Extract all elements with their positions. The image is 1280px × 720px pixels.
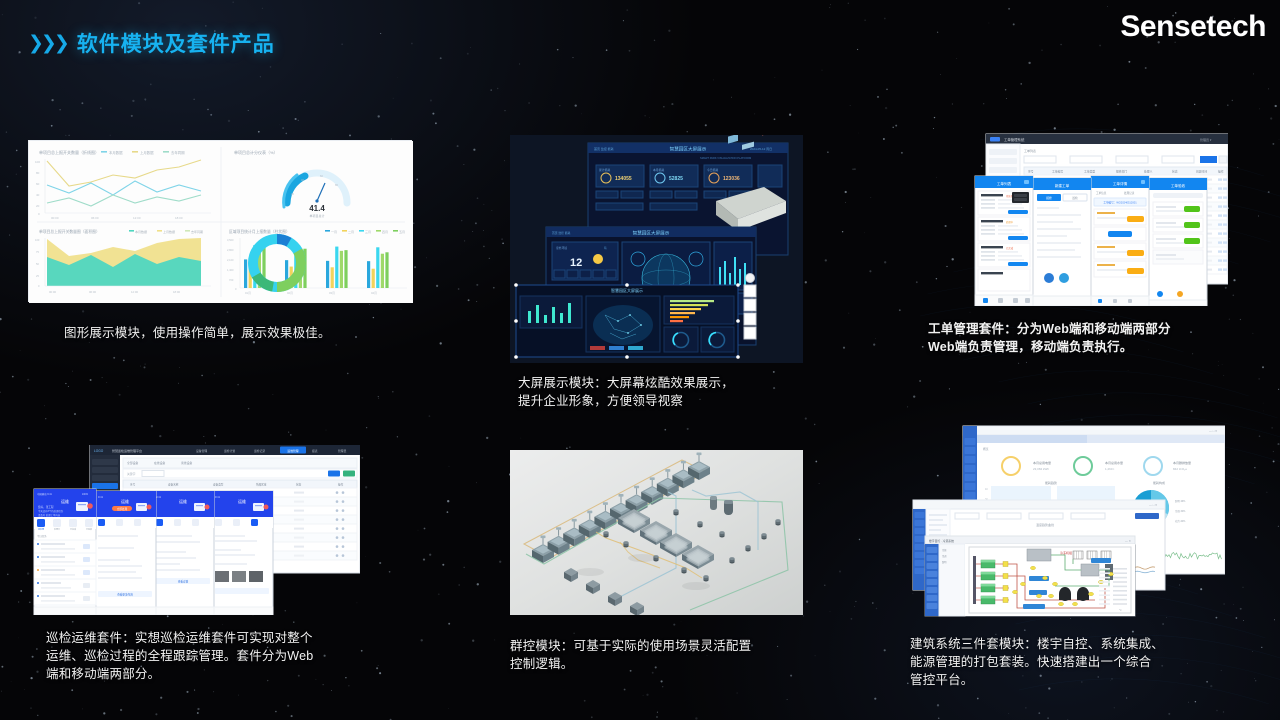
svg-text:二月: 二月 (348, 230, 354, 234)
svg-text:查看详情: 查看详情 (178, 580, 189, 584)
svg-text:18:00: 18:00 (173, 290, 180, 294)
svg-text:SMART PARK VISUALIZATION PLATF: SMART PARK VISUALIZATION PLATFORM (700, 156, 751, 160)
svg-text:今天还有8个待处理任务: 今天还有8个待处理任务 (38, 509, 64, 513)
bi-dashboard-image: 单项目总上报开关数量（折线图） 本月数据 上月数据 去年同期 1008060 4… (29, 141, 413, 303)
svg-text:上月数据: 上月数据 (163, 229, 175, 234)
svg-text:2,100: 2,100 (227, 258, 234, 262)
page-title: 软件模块及套件产品 (77, 28, 275, 58)
svg-text:今日任务: 今日任务 (37, 534, 47, 538)
svg-text:所属区域: 所属区域 (256, 483, 267, 487)
svg-text:状态: 状态 (296, 483, 302, 487)
svg-text:41.4: 41.4 (309, 204, 325, 213)
svg-text:晴: 晴 (604, 246, 607, 250)
svg-text:单项目总计分仪表（%）: 单项目总计分仪表（%） (234, 149, 278, 155)
svg-text:报修部门: 报修部门 (1116, 170, 1127, 174)
inspection-suite-image: LOGO 智慧巡检运维管理平台 设备管理巡检计划 巡检记录 运维管理 报表 管理… (28, 445, 360, 615)
caption-inspection-suite-line3: 端和移动端两部分。 (46, 666, 406, 684)
svg-text:巡检计划: 巡检计划 (224, 449, 235, 453)
panel-group-control-screenshot[interactable]: 群控模块：可基于实际的使用场景灵活配置 控制逻辑。 (510, 450, 803, 615)
svg-text:9:41: 9:41 (215, 495, 221, 499)
svg-text:序号: 序号 (1028, 170, 1034, 174)
svg-text:工单列表: 工单列表 (997, 181, 1012, 186)
svg-text:请及时 处理工单内容: 请及时 处理工单内容 (38, 513, 61, 517)
svg-text:工单类型: 工单类型 (1084, 170, 1095, 174)
svg-text:9:41: 9:41 (98, 495, 104, 499)
svg-text:本月数据: 本月数据 (135, 229, 147, 234)
svg-text:能耗构成: 能耗构成 (1153, 480, 1165, 485)
svg-text:创建时间: 创建时间 (1196, 170, 1207, 174)
svg-text:工单验收: 工单验收 (1171, 183, 1186, 188)
svg-text:智慧园区大屏展示: 智慧园区大屏展示 (633, 230, 670, 237)
svg-text:单项目总上报开关数量图（面积图）: 单项目总上报开关数量图（面积图） (39, 229, 100, 234)
svg-text:巡检记录: 巡检记录 (254, 449, 265, 453)
svg-text:今日能耗: 今日能耗 (707, 168, 718, 172)
video-wall-collage-image: 智慧园区大屏展示 首页 监控 能耗 2024-05-12 周日 SMART PA… (510, 135, 803, 363)
svg-text:工单详情: 工单详情 (1113, 181, 1128, 186)
svg-text:80: 80 (36, 171, 40, 175)
page-header: ❯❯❯ 软件模块及套件产品 Sensetech (0, 0, 1280, 70)
svg-text:空调 34%: 空调 34% (1175, 509, 1186, 513)
svg-text:三月: 三月 (365, 230, 371, 234)
caption-building-systems-line3: 管控平台。 (910, 672, 1250, 690)
panel-graphics-module-screenshot[interactable]: 单项目总上报开关数量（折线图） 本月数据 上月数据 去年同期 1008060 4… (28, 140, 412, 302)
svg-text:上月数据: 上月数据 (140, 150, 154, 155)
chevron-right-icon: ❯❯❯ (28, 32, 67, 55)
panel-building-systems-screenshot[interactable]: — □ ✕ 概览 本月总用电量 23,084 kWh 本月总用水量 1,260 … (905, 418, 1225, 618)
svg-text:03月: 03月 (329, 291, 335, 295)
svg-text:12: 12 (570, 257, 582, 269)
svg-text:单项目总上报开关数量（折线图）: 单项目总上报开关数量（折线图） (39, 149, 99, 155)
svg-text:00:00: 00:00 (51, 216, 59, 220)
svg-text:— □ ✕: — □ ✕ (1209, 429, 1217, 433)
svg-text:3,500: 3,500 (227, 238, 234, 242)
svg-text:处理人: 处理人 (1144, 170, 1153, 174)
svg-text:智慧园区大屏展示: 智慧园区大屏展示 (670, 146, 707, 153)
caption-building-systems-line1: 建筑系统三件套模块：楼宇自控、系统集成、 (910, 636, 1250, 654)
svg-text:℃: ℃ (1119, 609, 1122, 612)
svg-text:23,084 kWh: 23,084 kWh (1033, 467, 1049, 471)
caption-work-order-suite-line1: 工单管理套件：分为Web端和移动端两部分 (928, 321, 1268, 339)
svg-text:LOGO: LOGO (94, 449, 104, 453)
caption-inspection-suite-line2: 运维、巡检过程的全程跟踪管理。套件分为Web (46, 648, 406, 666)
svg-text:楼宇自控 · 冷源系统: 楼宇自控 · 冷源系统 (929, 539, 954, 543)
svg-text:新建工单: 新建工单 (1055, 183, 1070, 188)
svg-text:报表: 报表 (312, 449, 318, 453)
svg-text:室外环境: 室外环境 (556, 246, 567, 250)
svg-text:2,800: 2,800 (227, 248, 234, 252)
svg-text:02月: 02月 (287, 291, 293, 295)
svg-text:本月数据: 本月数据 (109, 150, 123, 155)
panel-inspection-suite-screenshot[interactable]: LOGO 智慧巡检运维管理平台 设备管理巡检计划 巡检记录 运维管理 报表 管理… (28, 445, 360, 615)
svg-text:去年同期: 去年同期 (171, 150, 185, 155)
svg-text:一月: 一月 (331, 230, 337, 234)
svg-text:在线设备: 在线设备 (154, 461, 165, 465)
svg-text:设备管理: 设备管理 (196, 449, 207, 453)
panel-work-order-suite-screenshot[interactable]: 工单管理系统 管理员 ▾ 工单列表 序号工单编号 工单类型报修部门 处理人状态 … (928, 128, 1228, 306)
caption-graphics-module: 图形展示模块，使用操作简单，展示效果极佳。 (64, 325, 424, 343)
svg-text:842 tCO₂e: 842 tCO₂e (1173, 467, 1187, 471)
svg-text:04月: 04月 (371, 291, 377, 295)
svg-text:序号: 序号 (130, 483, 136, 487)
svg-text:运维: 运维 (179, 498, 187, 504)
svg-text:操作: 操作 (338, 483, 344, 487)
svg-text:100: 100 (35, 238, 40, 242)
svg-text:60: 60 (36, 182, 40, 186)
svg-text:动力 20%: 动力 20% (1175, 519, 1186, 523)
svg-text:区域项目统计月上报数量（柱状图）: 区域项目统计月上报数量（柱状图） (229, 229, 290, 234)
svg-text:100: 100 (35, 160, 40, 164)
svg-text:— ✕: — ✕ (1125, 539, 1131, 543)
svg-text:单项目总计: 单项目总计 (309, 213, 324, 218)
svg-text:工单信息: 工单信息 (1096, 191, 1107, 195)
svg-text:1,400: 1,400 (227, 268, 234, 272)
svg-text:运维: 运维 (238, 498, 246, 504)
svg-text:温度趋势曲线: 温度趋势曲线 (1036, 522, 1054, 527)
svg-text:40: 40 (36, 193, 40, 197)
svg-text:本月总用电量: 本月总用电量 (1033, 460, 1051, 465)
svg-text:中国移动 9:41: 中国移动 9:41 (37, 492, 53, 496)
page-title-wrap: ❯❯❯ 软件模块及套件产品 (28, 28, 275, 58)
svg-text:工单管理系统: 工单管理系统 (1004, 137, 1025, 142)
svg-text:处理中: 处理中 (1006, 220, 1014, 224)
svg-text:134055: 134055 (615, 176, 632, 182)
svg-text:累计能耗: 累计能耗 (599, 168, 610, 172)
caption-large-screen-module-line2: 提升企业形象，方便领导视察 (518, 393, 818, 411)
svg-text:四月: 四月 (382, 230, 388, 234)
svg-text:立即处理: 立即处理 (117, 507, 128, 511)
svg-text:冷冻机组: 冷冻机组 (1060, 550, 1072, 555)
svg-text:00:00: 00:00 (49, 290, 56, 294)
svg-text:报修: 报修 (1046, 196, 1052, 200)
svg-text:01月: 01月 (245, 291, 251, 295)
svg-text:状态: 状态 (1172, 170, 1178, 174)
svg-text:— □ ✕: — □ ✕ (1149, 503, 1157, 507)
work-order-suite-image: 工单管理系统 管理员 ▾ 工单列表 序号工单编号 工单类型报修部门 处理人状态 … (928, 128, 1228, 306)
svg-text:离线设备: 离线设备 (181, 461, 192, 465)
svg-text:06:00: 06:00 (89, 290, 96, 294)
panel-large-screen-module-screenshot[interactable]: 智慧园区大屏展示 首页 监控 能耗 2024-05-12 周日 SMART PA… (510, 135, 803, 363)
svg-text:管理员: 管理员 (338, 449, 347, 453)
svg-text:运维: 运维 (61, 498, 69, 504)
svg-text:18:00: 18:00 (175, 216, 183, 220)
svg-text:管理员 ▾: 管理员 ▾ (1200, 137, 1212, 142)
svg-text:1,260 t: 1,260 t (1105, 467, 1114, 471)
svg-text:设备名称: 设备名称 (168, 483, 179, 487)
svg-text:工单列表: 工单列表 (1024, 148, 1036, 153)
chiller-plant-3d-image (510, 450, 803, 615)
svg-text:巡检: 巡检 (1072, 196, 1078, 200)
svg-text:首页 监控 能耗: 首页 监控 能耗 (552, 231, 571, 235)
svg-text:20: 20 (36, 204, 40, 208)
svg-text:700: 700 (229, 278, 234, 282)
svg-text:智慧园区大屏展示: 智慧园区大屏展示 (611, 287, 643, 293)
caption-group-control-line2: 控制逻辑。 (510, 656, 830, 674)
svg-text:查看更多内容: 查看更多内容 (117, 593, 133, 597)
svg-text:123036: 123036 (723, 176, 740, 182)
svg-text:运维管理: 运维管理 (287, 449, 298, 453)
svg-text:首页 监控 能耗: 首页 监控 能耗 (594, 146, 614, 151)
svg-text:12:00: 12:00 (131, 290, 138, 294)
svg-text:运维: 运维 (121, 498, 129, 504)
svg-text:本月碳排放量: 本月碳排放量 (1173, 460, 1191, 465)
svg-text:06:00: 06:00 (91, 216, 99, 220)
svg-text:已完成: 已完成 (1006, 246, 1014, 250)
building-systems-image: — □ ✕ 概览 本月总用电量 23,084 kWh 本月总用水量 1,260 … (905, 418, 1225, 618)
svg-text:照明 46%: 照明 46% (1175, 499, 1186, 503)
svg-text:本月总用水量: 本月总用水量 (1105, 460, 1123, 465)
svg-text:9:41: 9:41 (156, 495, 162, 499)
caption-work-order-suite-line2: Web端负责管理，移动端负责执行。 (928, 339, 1268, 357)
svg-text:处理记录: 处理记录 (1124, 191, 1135, 195)
svg-text:52825: 52825 (669, 176, 683, 182)
svg-text:五月: 五月 (399, 230, 405, 234)
caption-building-systems-line2: 能源管理的打包套装。快速搭建出一个综合 (910, 654, 1250, 672)
svg-text:去年同期: 去年同期 (191, 229, 203, 234)
caption-large-screen-module-line1: 大屏展示模块：大屏幕炫酷效果展示， (518, 375, 818, 393)
svg-text:您好，张工程: 您好，张工程 (38, 505, 54, 509)
svg-text:智慧巡检运维管理平台: 智慧巡检运维管理平台 (112, 448, 142, 453)
caption-group-control-line1: 群控模块：可基于实际的使用场景灵活配置 (510, 638, 830, 656)
svg-text:概览: 概览 (983, 447, 989, 451)
caption-inspection-suite-line1: 巡检运维套件：实想巡检运维套件可实现对整个 (46, 630, 406, 648)
svg-text:关键字: 关键字 (127, 472, 136, 476)
svg-text:本月能耗: 本月能耗 (653, 168, 664, 172)
svg-text:设备类型: 设备类型 (213, 483, 224, 487)
svg-text:100%: 100% (82, 493, 89, 496)
svg-text:能耗趋势: 能耗趋势 (1045, 480, 1057, 485)
svg-text:工单编号：WO20240512001: 工单编号：WO20240512001 (1103, 201, 1137, 205)
brand-logo: Sensetech (1120, 10, 1266, 44)
svg-text:操作: 操作 (1218, 170, 1224, 174)
svg-text:12:00: 12:00 (133, 216, 141, 220)
svg-text:全部设备: 全部设备 (127, 461, 138, 465)
svg-text:工单编号: 工单编号 (1052, 170, 1063, 174)
